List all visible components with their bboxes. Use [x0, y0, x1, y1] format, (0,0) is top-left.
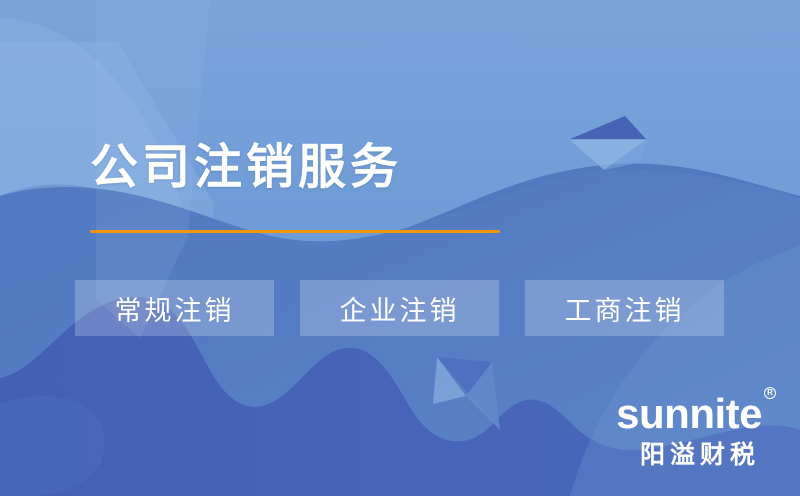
logo-wordmark: sunnite — [616, 393, 762, 435]
tag-label: 企业注销 — [340, 289, 460, 328]
title-divider — [90, 230, 500, 233]
tag-list: 常规注销 企业注销 工商注销 — [75, 280, 724, 336]
tag-enterprise-cancellation[interactable]: 企业注销 — [300, 280, 499, 336]
promo-banner: 公司注销服务 常规注销 企业注销 工商注销 sunnite R 阳溢财税 — [0, 0, 800, 496]
tag-label: 工商注销 — [565, 289, 685, 328]
registered-trademark-icon: R — [764, 387, 776, 399]
logo-chinese-name: 阳溢财税 — [616, 443, 762, 468]
tag-label: 常规注销 — [115, 289, 235, 328]
page-title: 公司注销服务 — [90, 142, 402, 195]
tag-business-cancellation[interactable]: 工商注销 — [525, 280, 724, 336]
tag-regular-cancellation[interactable]: 常规注销 — [75, 280, 274, 336]
logo-wordmark-row: sunnite R — [616, 393, 762, 435]
banner-content: 公司注销服务 常规注销 企业注销 工商注销 sunnite R 阳溢财税 — [0, 0, 800, 496]
company-logo: sunnite R 阳溢财税 — [616, 393, 762, 468]
